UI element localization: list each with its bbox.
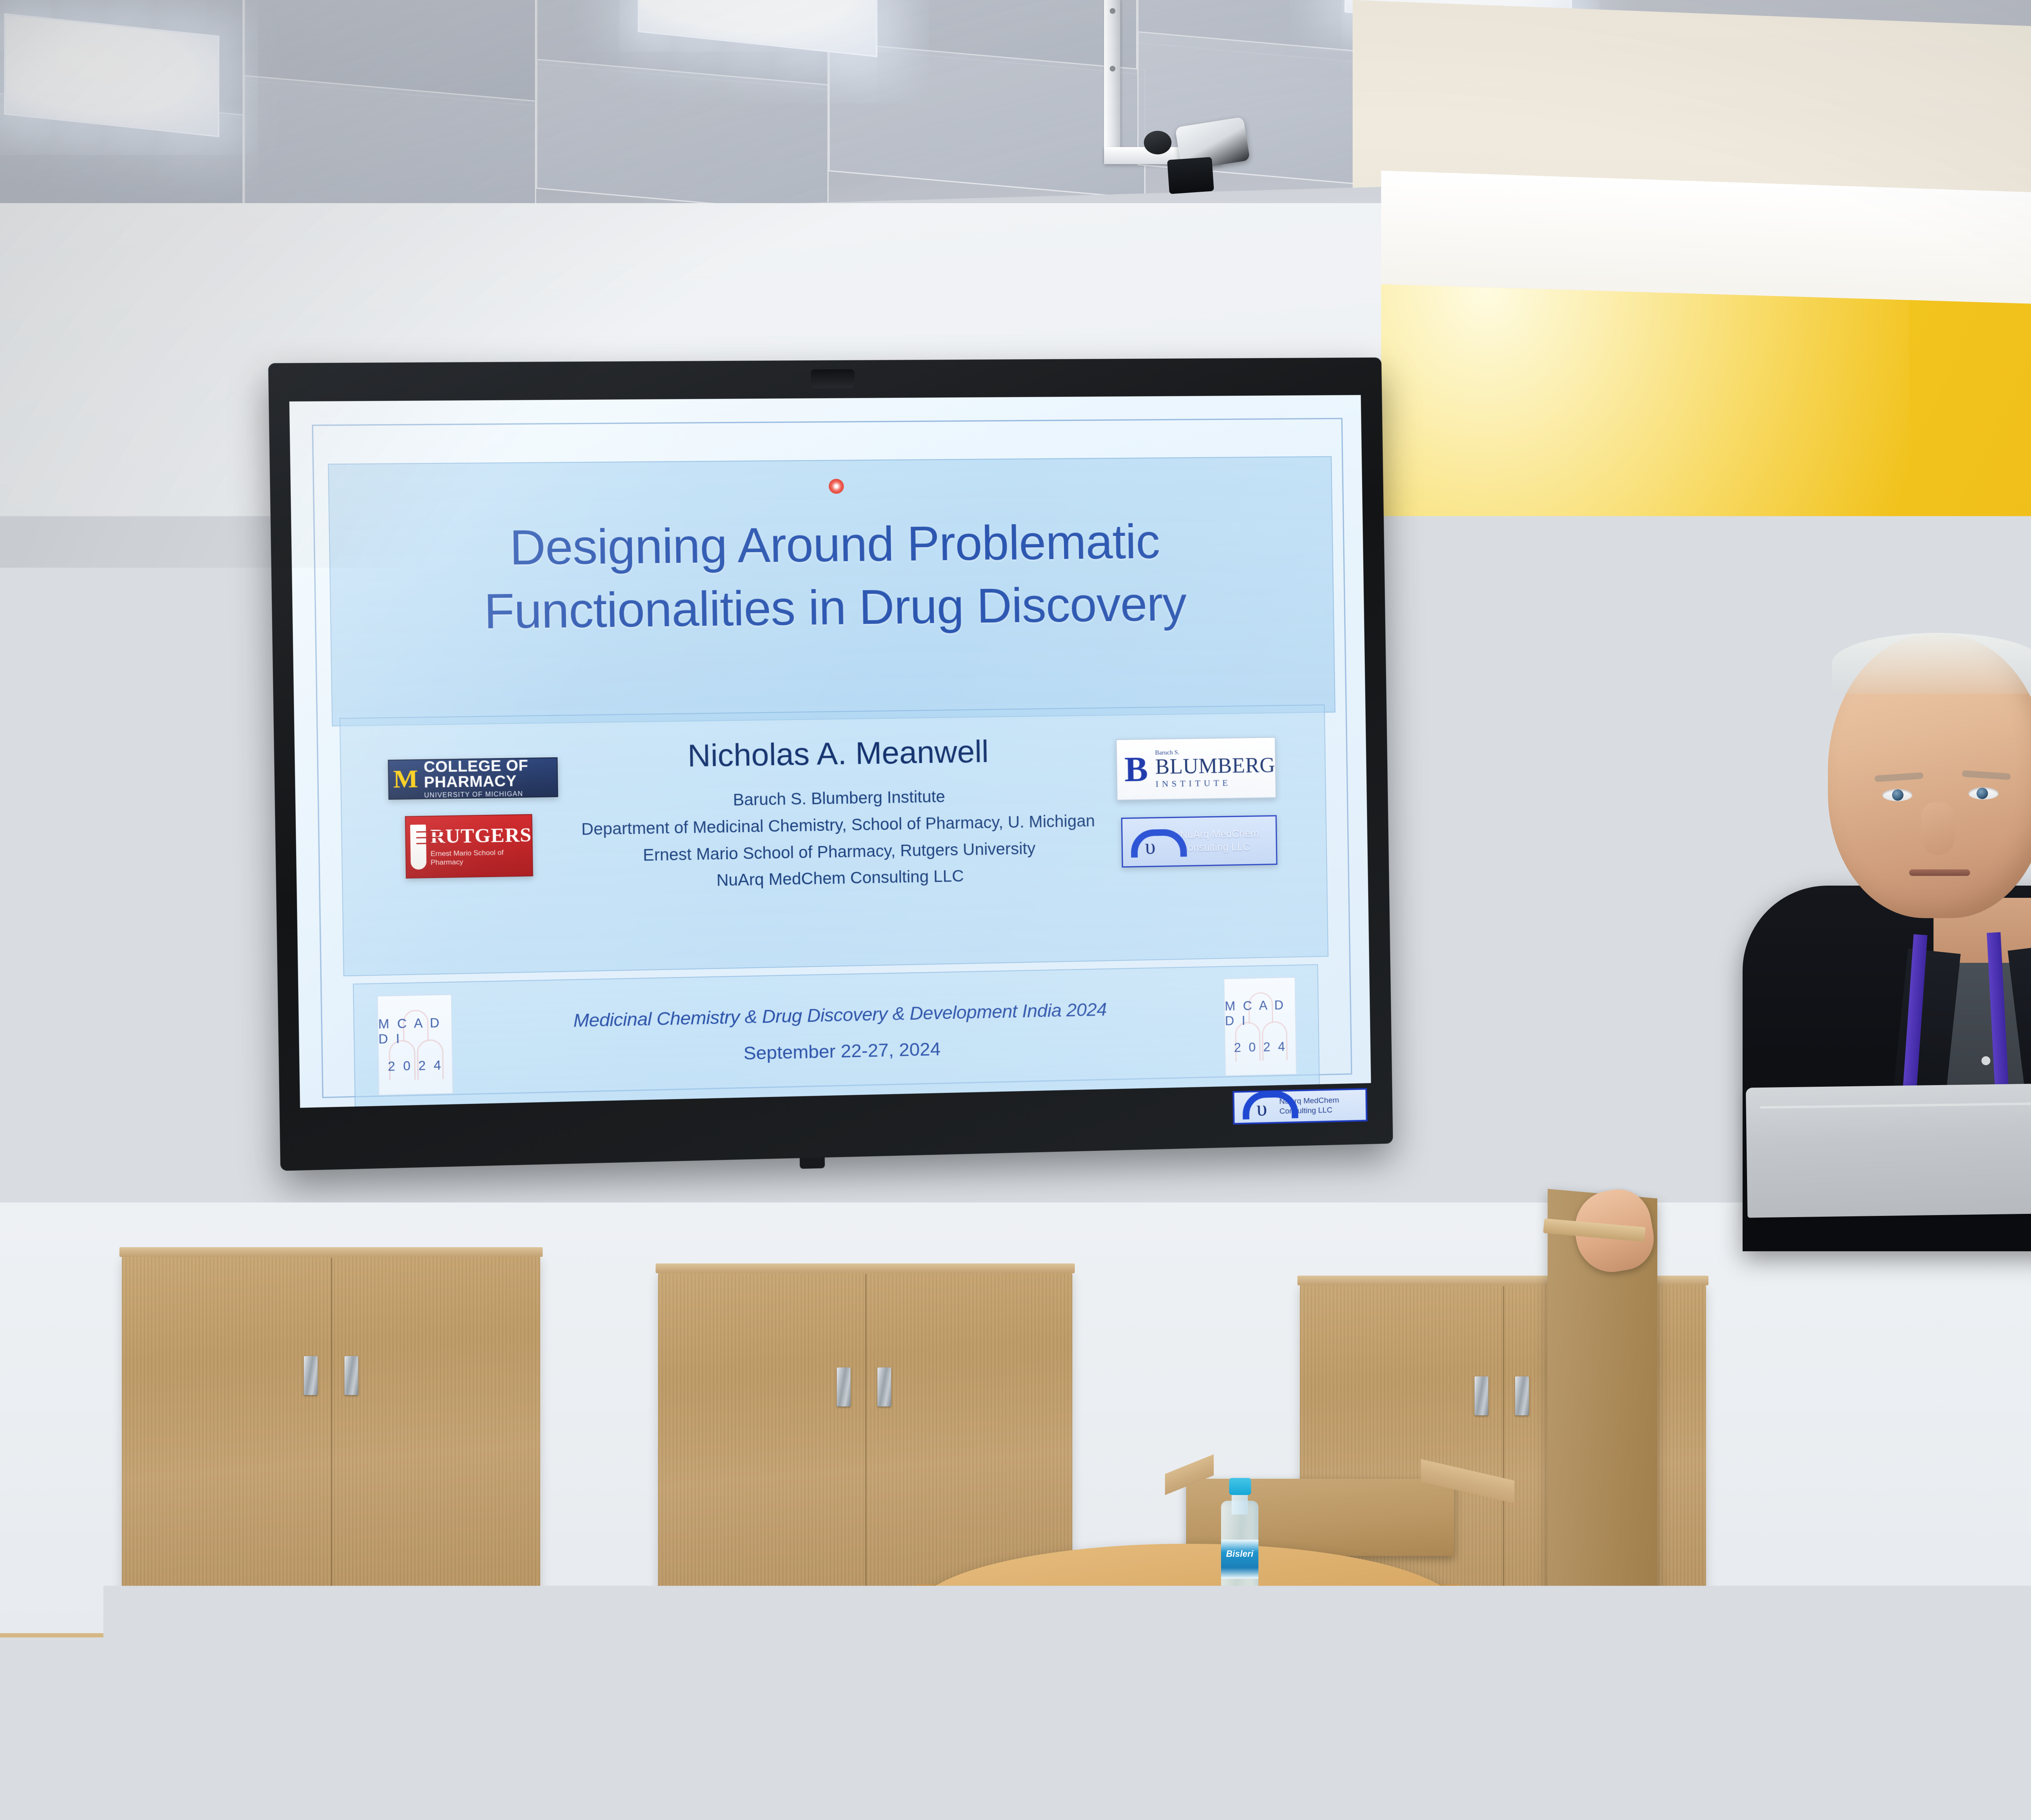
conference-date: September 22-27, 2024 bbox=[466, 1032, 1213, 1070]
slide-title-line2: Functionalities in Drug Discovery bbox=[331, 572, 1334, 646]
presentation-display[interactable]: Designing Around Problematic Functionali… bbox=[268, 357, 1393, 1171]
nuarq-consulting-logo: NuArq MedChem Consulting LLC bbox=[1121, 815, 1277, 867]
mcaddi-logo-line2: 2 0 2 4 bbox=[1234, 1040, 1287, 1055]
slide-title: Designing Around Problematic Functionali… bbox=[329, 509, 1333, 646]
mcaddi-logo-left: M C A D D I 2 0 2 4 bbox=[377, 994, 453, 1096]
ceiling-mount-pole bbox=[1104, 0, 1120, 162]
presentation-photo-scene: Designing Around Problematic Functionali… bbox=[0, 0, 2031, 1820]
bottle-neck bbox=[1232, 1492, 1248, 1514]
cabinet-handle-icon[interactable] bbox=[1515, 1376, 1529, 1415]
speaker-nose bbox=[1921, 802, 1955, 855]
laptop-lid-seam bbox=[1760, 1102, 2031, 1109]
speaker-iris-right bbox=[1977, 788, 1988, 799]
laser-pointer-dot-icon bbox=[829, 479, 844, 494]
slide-canvas: Designing Around Problematic Functionali… bbox=[289, 395, 1371, 1108]
cabinet-door-seam bbox=[1503, 1286, 1504, 1631]
mount-bolt-hole bbox=[1110, 8, 1115, 14]
display-camera-icon bbox=[811, 369, 855, 388]
camera-swivel-joint bbox=[1144, 131, 1171, 154]
mcaddi-logo-right: M C A D D I 2 0 2 4 bbox=[1223, 977, 1297, 1077]
camera-lens-icon bbox=[1167, 157, 1214, 194]
screen-corner-nuarq-logo: NuArq MedChem Consulting LLC bbox=[1232, 1088, 1367, 1124]
speaker-iris-left bbox=[1892, 789, 1903, 801]
slide-title-line1: Designing Around Problematic bbox=[329, 509, 1332, 582]
nuarq-arch-icon bbox=[1240, 1095, 1278, 1119]
mcaddi-logo-line2: 2 0 2 4 bbox=[388, 1058, 444, 1074]
cabinet-handle-icon[interactable] bbox=[1475, 1376, 1488, 1415]
michigan-logo-primary: COLLEGE OF PHARMACY bbox=[424, 757, 557, 790]
nuarq-arch-icon bbox=[1128, 827, 1178, 858]
speaker-mouth bbox=[1909, 869, 1970, 876]
mount-bolt-hole bbox=[1110, 66, 1115, 71]
slide-title-block: Designing Around Problematic Functionali… bbox=[328, 456, 1335, 726]
rutgers-logo-primary: RUTGERS bbox=[430, 825, 532, 847]
slide-conference-block: M C A D D I 2 0 2 4 Medicinal Chemistry … bbox=[353, 964, 1320, 1107]
nuarq-logo-line1: NuArq MedChem bbox=[1180, 827, 1276, 842]
cabinet-handle-icon[interactable] bbox=[877, 1367, 891, 1406]
blumberg-logo-secondary: INSTITUTE bbox=[1156, 777, 1275, 789]
bottle-label: Bisleri bbox=[1221, 1540, 1258, 1579]
speaker-hair-top bbox=[1832, 633, 2031, 694]
cabinet-door-seam bbox=[865, 1274, 866, 1627]
bottle-cap bbox=[1229, 1478, 1251, 1495]
nuarq-logo-line2: Consulting LLC bbox=[1180, 840, 1276, 855]
cabinet-top bbox=[119, 1247, 543, 1257]
cabinet-door-seam bbox=[331, 1258, 332, 1627]
michigan-m-icon: M bbox=[389, 768, 422, 791]
blumberg-logo-primary: BLUMBERG bbox=[1155, 755, 1275, 778]
cabinet-top bbox=[656, 1263, 1075, 1273]
blumberg-b-icon: B bbox=[1117, 754, 1156, 785]
michigan-pharmacy-logo: M COLLEGE OF PHARMACY UNIVERSITY OF MICH… bbox=[388, 757, 558, 800]
cabinet-handle-icon[interactable] bbox=[837, 1367, 851, 1406]
door-handle-icon[interactable] bbox=[39, 971, 55, 1072]
mcaddi-logo-line1: M C A D D I bbox=[378, 1015, 452, 1047]
display-chin bbox=[800, 1157, 825, 1169]
slide-author-block: Nicholas A. Meanwell Baruch S. Blumberg … bbox=[340, 704, 1329, 976]
storage-cabinet[interactable] bbox=[122, 1255, 540, 1629]
rutgers-shield-icon bbox=[410, 825, 427, 870]
conference-title: Medicinal Chemistry & Drug Discovery & D… bbox=[465, 997, 1212, 1034]
cabinet-handle-icon[interactable] bbox=[304, 1356, 318, 1395]
podium-lectern[interactable]: Biocon Academy Adding Value, Enhancing S… bbox=[1633, 1209, 2031, 1820]
water-bottle[interactable]: Bisleri bbox=[1221, 1478, 1258, 1640]
shirt-button bbox=[1981, 1056, 1990, 1065]
blumberg-institute-logo: B Baruch S. BLUMBERG INSTITUTE bbox=[1116, 737, 1276, 801]
bottle-brand: Bisleri bbox=[1221, 1549, 1258, 1559]
cabinet-handle-icon[interactable] bbox=[344, 1356, 358, 1395]
rutgers-pharmacy-logo: RUTGERS Ernest Mario School of Pharmacy bbox=[405, 814, 533, 879]
mcaddi-logo-line1: M C A D D I bbox=[1225, 998, 1295, 1029]
rutgers-logo-secondary: Ernest Mario School of Pharmacy bbox=[431, 847, 532, 867]
table-leg bbox=[1173, 1633, 1192, 1755]
